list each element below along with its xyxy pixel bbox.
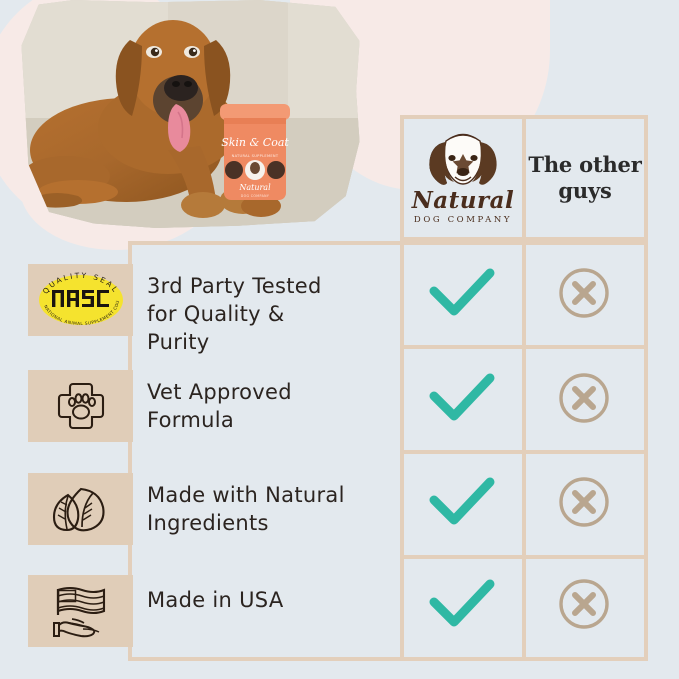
brand-check-icon-3 [401,576,523,632]
logo-subtitle-text: DOG COMPANY [414,215,512,225]
feature-line: Made with Natural [147,482,397,510]
table-row-divider-1 [400,345,648,349]
brand-check-icon-2 [401,474,523,530]
column-header-brand: Natural DOG COMPANY [400,115,526,241]
feature-line: Made in USA [147,587,397,615]
feature-line: Vet Approved [147,379,397,407]
leaves-icon [28,473,133,545]
logo-script-text: Natural [412,189,515,212]
competitor-header-line2: guys [528,178,641,204]
feature-line: 3rd Party Tested [147,273,397,301]
feature-line: for Quality & [147,301,397,329]
competitor-cross-icon-3 [523,576,645,632]
svg-text:Skin & Coat: Skin & Coat [221,136,289,149]
nasc-quality-seal-icon: QUALITY SEAL NATIONAL ANIMAL SUPPLEMENT … [28,264,133,336]
column-header-competitors: The other guys [522,115,648,241]
feature-label-0: 3rd Party Tested for Quality & Purity [147,273,397,357]
table-row-divider-2 [400,450,648,454]
dog-with-supplement-photo: Skin & Coat NATURAL SUPPLEMENT Natural D… [18,0,363,228]
competitor-cross-icon-0 [523,265,645,321]
feature-label-2: Made with Natural Ingredients [147,482,397,538]
feature-line: Ingredients [147,510,397,538]
brand-check-icon-1 [401,370,523,426]
table-row-divider-3 [400,555,648,559]
competitor-header-text: The other guys [528,152,641,205]
svg-text:NATURAL SUPPLEMENT: NATURAL SUPPLEMENT [232,154,279,158]
medical-cross-paw-icon [28,370,133,442]
natural-dog-company-logo: Natural DOG COMPANY [404,119,522,237]
feature-label-3: Made in USA [147,587,397,615]
feature-line: Formula [147,407,397,435]
svg-text:DOG COMPANY: DOG COMPANY [241,194,270,198]
competitor-header-line1: The other [528,152,641,178]
infographic-stage: Skin & Coat NATURAL SUPPLEMENT Natural D… [0,0,679,679]
competitor-cross-icon-2 [523,474,645,530]
feature-line: Purity [147,329,397,357]
brand-check-icon-0 [401,265,523,321]
feature-label-1: Vet Approved Formula [147,379,397,435]
svg-text:Natural: Natural [238,183,271,192]
boston-terrier-dog-head-icon [424,132,502,188]
competitor-cross-icon-1 [523,370,645,426]
hand-holding-usa-flag-icon [28,575,133,647]
